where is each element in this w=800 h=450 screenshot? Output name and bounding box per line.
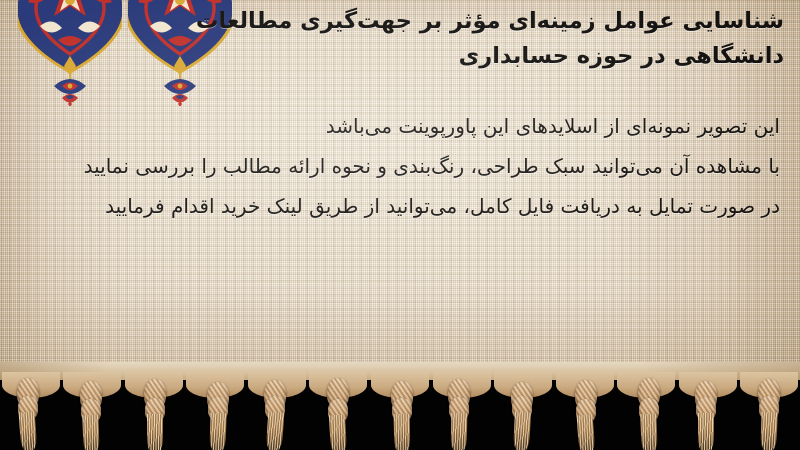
slide-body-line-3: در صورت تمایل به دریافت فایل کامل، می‌تو… bbox=[16, 186, 780, 226]
slide-body-line-2: با مشاهده آن می‌توانید سبک طراحی، رنگ‌بن… bbox=[16, 146, 780, 186]
fringe-tassel bbox=[18, 411, 37, 450]
fringe-tassel bbox=[450, 413, 467, 450]
slide-title-line-1: شناسایی عوامل زمینه‌ای مؤثر بر جهت‌گیری … bbox=[14, 4, 784, 39]
fringe-tassel bbox=[761, 412, 778, 450]
slide-body: این تصویر نمونه‌ای از اسلایدهای این پاور… bbox=[16, 106, 780, 226]
fringe-tassel bbox=[329, 415, 347, 450]
slide-body-line-1: این تصویر نمونه‌ای از اسلایدهای این پاور… bbox=[16, 106, 780, 146]
fringe-tassel bbox=[394, 414, 411, 450]
knotted-tassel-fringe bbox=[0, 362, 800, 450]
slide-title: شناسایی عوامل زمینه‌ای مؤثر بر جهت‌گیری … bbox=[14, 4, 784, 74]
slide-title-line-2: دانشگاهی در حوزه حسابداری bbox=[14, 39, 784, 74]
slide-text-layer: شناسایی عوامل زمینه‌ای مؤثر بر جهت‌گیری … bbox=[0, 0, 800, 380]
fringe-tassel bbox=[266, 411, 285, 450]
presentation-slide: شناسایی عوامل زمینه‌ای مؤثر بر جهت‌گیری … bbox=[0, 0, 800, 450]
fringe-tassel bbox=[698, 413, 714, 450]
fringe-tassel bbox=[210, 413, 227, 450]
fringe-tassel bbox=[640, 414, 657, 450]
fringe-tassel bbox=[513, 412, 531, 450]
fringe-tassel bbox=[147, 414, 163, 450]
fringe-tassel bbox=[576, 414, 595, 450]
fringe-tassel bbox=[83, 415, 100, 450]
